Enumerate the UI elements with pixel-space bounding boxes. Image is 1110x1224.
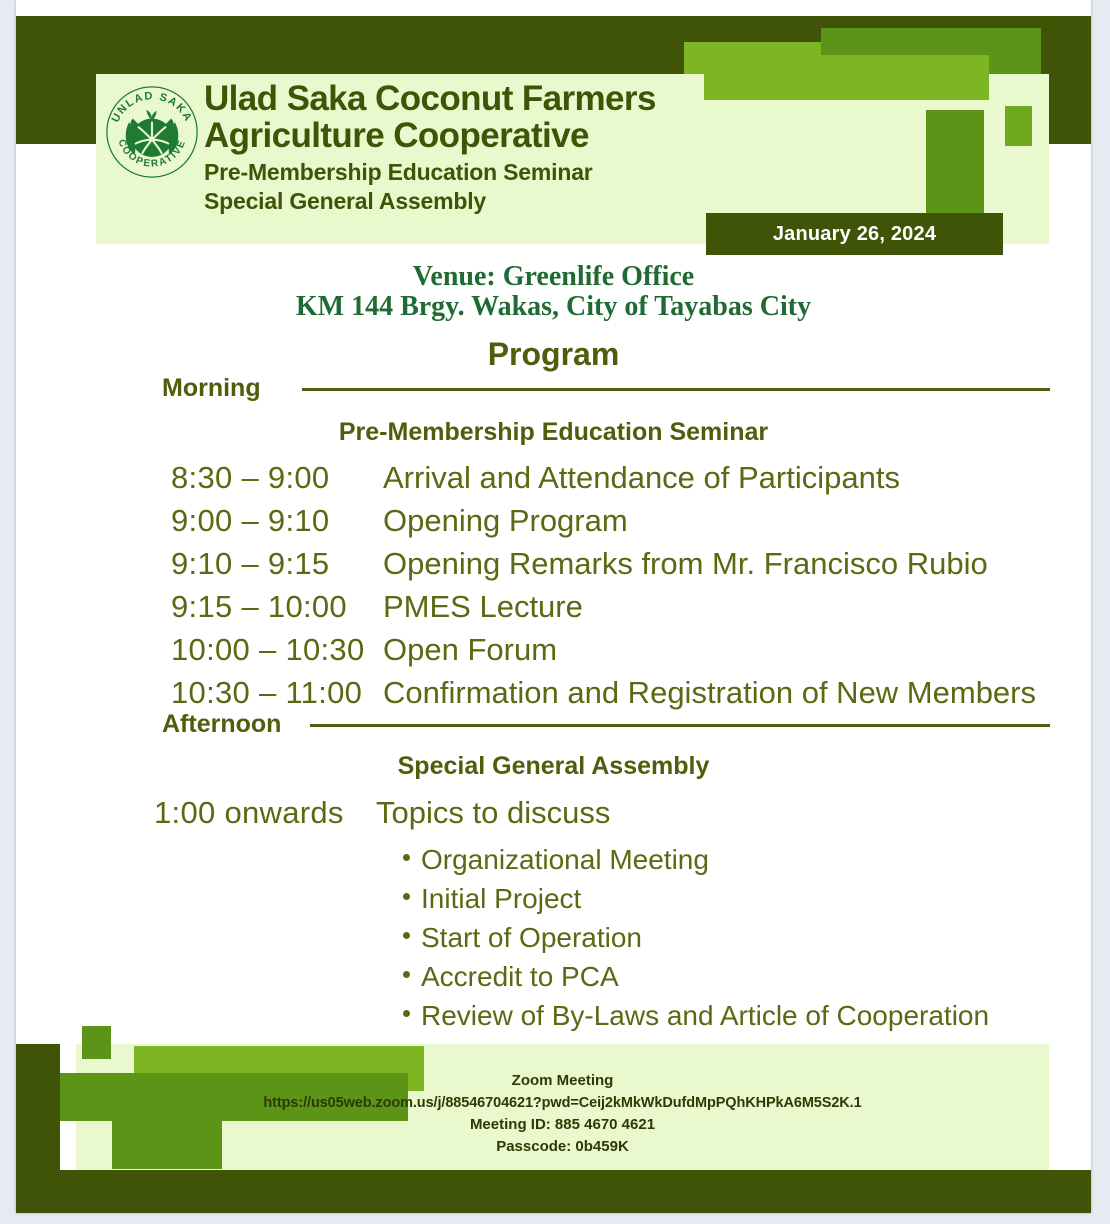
list-item: Accredit to PCA [403,957,1081,996]
date-badge: January 26, 2024 [706,213,1003,255]
bullet-icon [403,1010,410,1017]
topics-list: Organizational Meeting Initial Project S… [381,840,1081,1035]
schedule-desc: Arrival and Attendance of Participants [371,456,1091,499]
afternoon-section-header: Afternoon [162,710,1052,740]
footer-dark-block [16,1044,60,1186]
topic-label: Accredit to PCA [421,961,619,992]
org-name-line2: Agriculture Cooperative [204,117,724,154]
header-mid-overlay-rect [926,110,984,218]
venue-line1: Venue: Greenlife Office [16,262,1091,292]
topic-label: Start of Operation [421,922,642,953]
venue-line2: KM 144 Brgy. Wakas, City of Tayabas City [16,292,1091,322]
afternoon-label: Afternoon [162,710,281,739]
schedule-row: 9:15 – 10:00 PMES Lecture [16,585,1091,628]
afternoon-divider [310,724,1050,727]
morning-section-header: Morning [162,374,1052,404]
header-title-block: Ulad Saka Coconut Farmers Agriculture Co… [204,80,724,216]
zoom-passcode: Passcode: 0b459K [76,1136,1049,1158]
bottom-dark-band [16,1170,1091,1213]
schedule-time: 9:10 – 9:15 [16,542,371,585]
bullet-icon [403,893,410,900]
schedule-row: 9:00 – 9:10 Opening Program [16,499,1091,542]
schedule-time: 10:30 – 11:00 [16,671,371,714]
org-name-line1: Ulad Saka Coconut Farmers [204,80,724,117]
header-subtitle-line2: Special General Assembly [204,187,724,216]
venue-block: Venue: Greenlife Office KM 144 Brgy. Wak… [16,262,1091,322]
zoom-meeting-id: Meeting ID: 885 4670 4621 [76,1114,1049,1136]
schedule-desc: Opening Program [371,499,1091,542]
topic-label: Review of By-Laws and Article of Coopera… [421,1000,989,1031]
list-item: Initial Project [403,879,1081,918]
footer-small-square [82,1026,111,1059]
sga-block-title: Special General Assembly [16,752,1091,781]
header-small-square [1005,106,1032,146]
schedule-row: 10:30 – 11:00 Confirmation and Registrat… [16,671,1091,714]
afternoon-schedule-row: 1:00 onwards Topics to discuss [16,795,1091,831]
schedule-time: 8:30 – 9:00 [16,456,371,499]
zoom-meeting-info: Zoom Meeting https://us05web.zoom.us/j/8… [76,1070,1049,1158]
cooperative-logo: UNLAD SAKA COOPERATIVE [104,84,200,180]
schedule-time: 9:15 – 10:00 [16,585,371,628]
list-item: Review of By-Laws and Article of Coopera… [403,996,1081,1035]
list-item: Start of Operation [403,918,1081,957]
morning-divider [302,388,1050,391]
morning-schedule-list: 8:30 – 9:00 Arrival and Attendance of Pa… [16,456,1091,714]
afternoon-time: 1:00 onwards [16,795,364,831]
list-item: Organizational Meeting [403,840,1081,879]
zoom-url[interactable]: https://us05web.zoom.us/j/88546704621?pw… [76,1092,1049,1114]
schedule-row: 10:00 – 10:30 Open Forum [16,628,1091,671]
schedule-desc: Opening Remarks from Mr. Francisco Rubio [371,542,1091,585]
topic-label: Organizational Meeting [421,844,709,875]
morning-label: Morning [162,374,261,403]
program-heading: Program [16,336,1091,373]
header-subtitle-line1: Pre-Membership Education Seminar [204,158,724,187]
header-bright-overlay-rect [704,55,989,100]
schedule-desc: Confirmation and Registration of New Mem… [371,671,1091,714]
schedule-desc: Open Forum [371,628,1091,671]
poster-page: UNLAD SAKA COOPERATIVE [16,0,1091,1213]
schedule-row: 9:10 – 9:15 Opening Remarks from Mr. Fra… [16,542,1091,585]
topic-label: Initial Project [421,883,581,914]
afternoon-desc: Topics to discuss [364,795,1091,831]
schedule-row: 8:30 – 9:00 Arrival and Attendance of Pa… [16,456,1091,499]
pmes-block-title: Pre-Membership Education Seminar [16,418,1091,447]
bullet-icon [403,971,410,978]
schedule-time: 9:00 – 9:10 [16,499,371,542]
schedule-time: 10:00 – 10:30 [16,628,371,671]
bullet-icon [403,932,410,939]
bullet-icon [403,854,410,861]
schedule-desc: PMES Lecture [371,585,1091,628]
zoom-title: Zoom Meeting [76,1070,1049,1092]
